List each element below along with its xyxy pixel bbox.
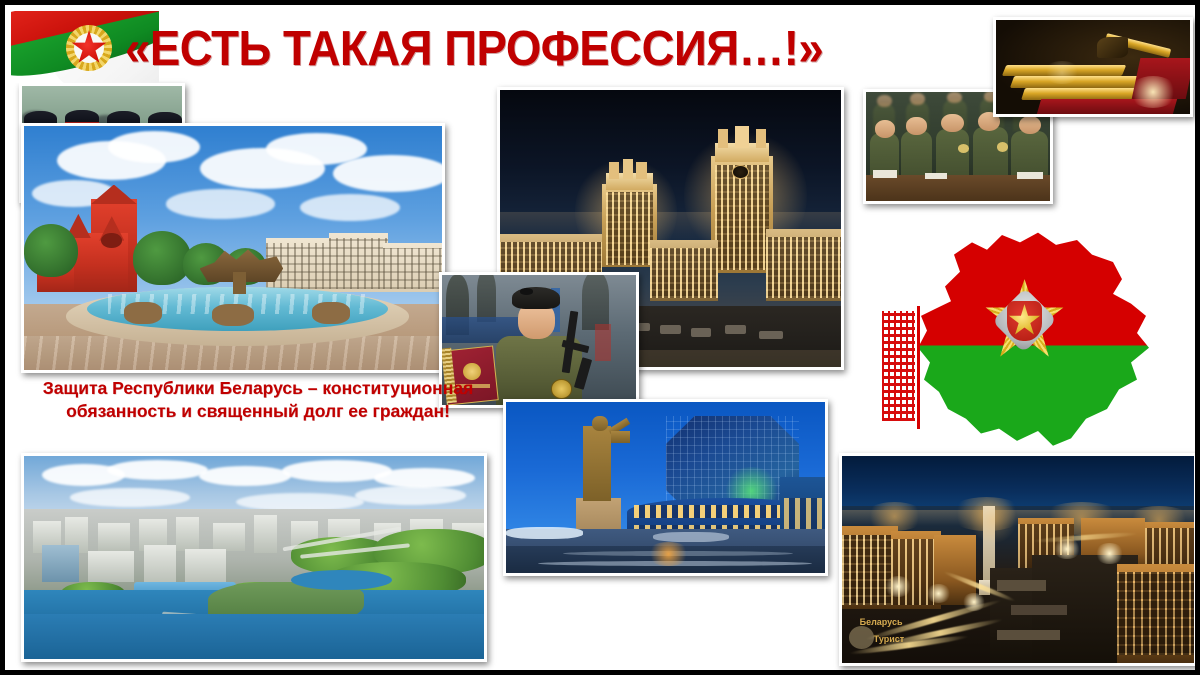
watermark-line2: Турист	[874, 634, 905, 644]
belarus-map-graphic	[873, 213, 1173, 458]
slide-caption: Защита Республики Беларусь – конституцио…	[13, 377, 503, 423]
photo-night-avenue: Беларусь Турист	[839, 453, 1197, 666]
photo-national-library	[503, 399, 828, 576]
photo-independence-square	[21, 123, 445, 373]
photo-regimental-banner	[993, 17, 1193, 117]
presentation-slide: «ЕСТЬ ТАКАЯ ПРОФЕССИЯ…!»	[0, 0, 1200, 675]
photo-minsk-aerial	[21, 453, 487, 662]
belarus-ornament-pattern	[882, 311, 915, 421]
armed-forces-emblem-icon	[984, 279, 1065, 362]
clock-icon	[732, 165, 749, 179]
page-title: «ЕСТЬ ТАКАЯ ПРОФЕССИЯ…!»	[125, 21, 897, 77]
